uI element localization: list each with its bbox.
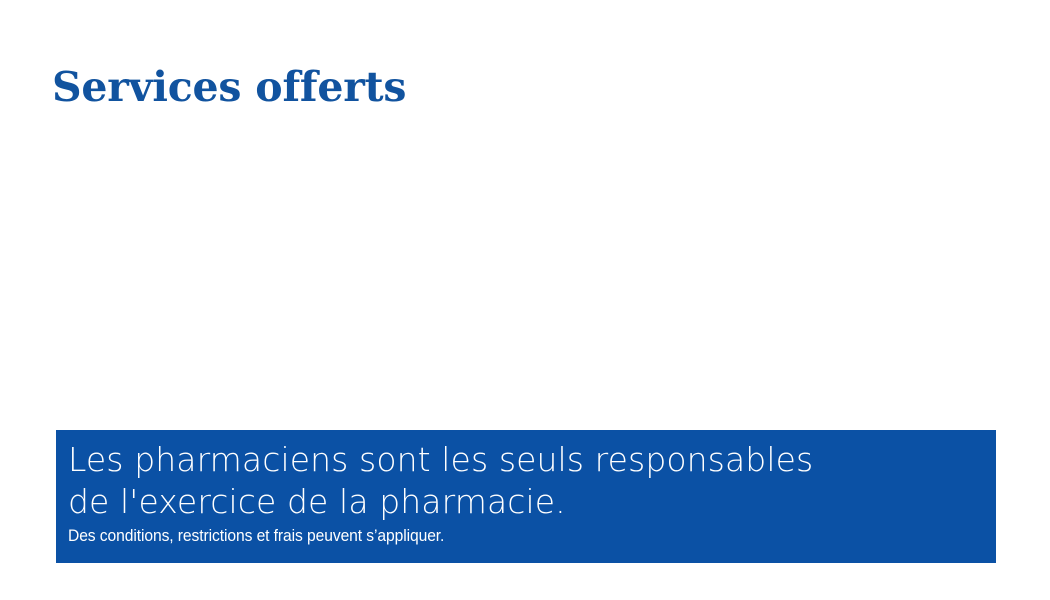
highlight-banner: Les pharmaciens sont les seuls responsab… [56, 430, 996, 563]
banner-headline: Les pharmaciens sont les seuls responsab… [68, 439, 996, 523]
banner-headline-line-2: de l'exercice de la pharmacie. [68, 481, 996, 523]
page-title: Services offerts [52, 63, 406, 111]
slide-canvas: Services offerts Les pharmaciens sont le… [0, 0, 1050, 600]
banner-headline-line-1: Les pharmaciens sont les seuls responsab… [68, 439, 996, 481]
banner-subline: Des conditions, restrictions et frais pe… [68, 525, 922, 547]
